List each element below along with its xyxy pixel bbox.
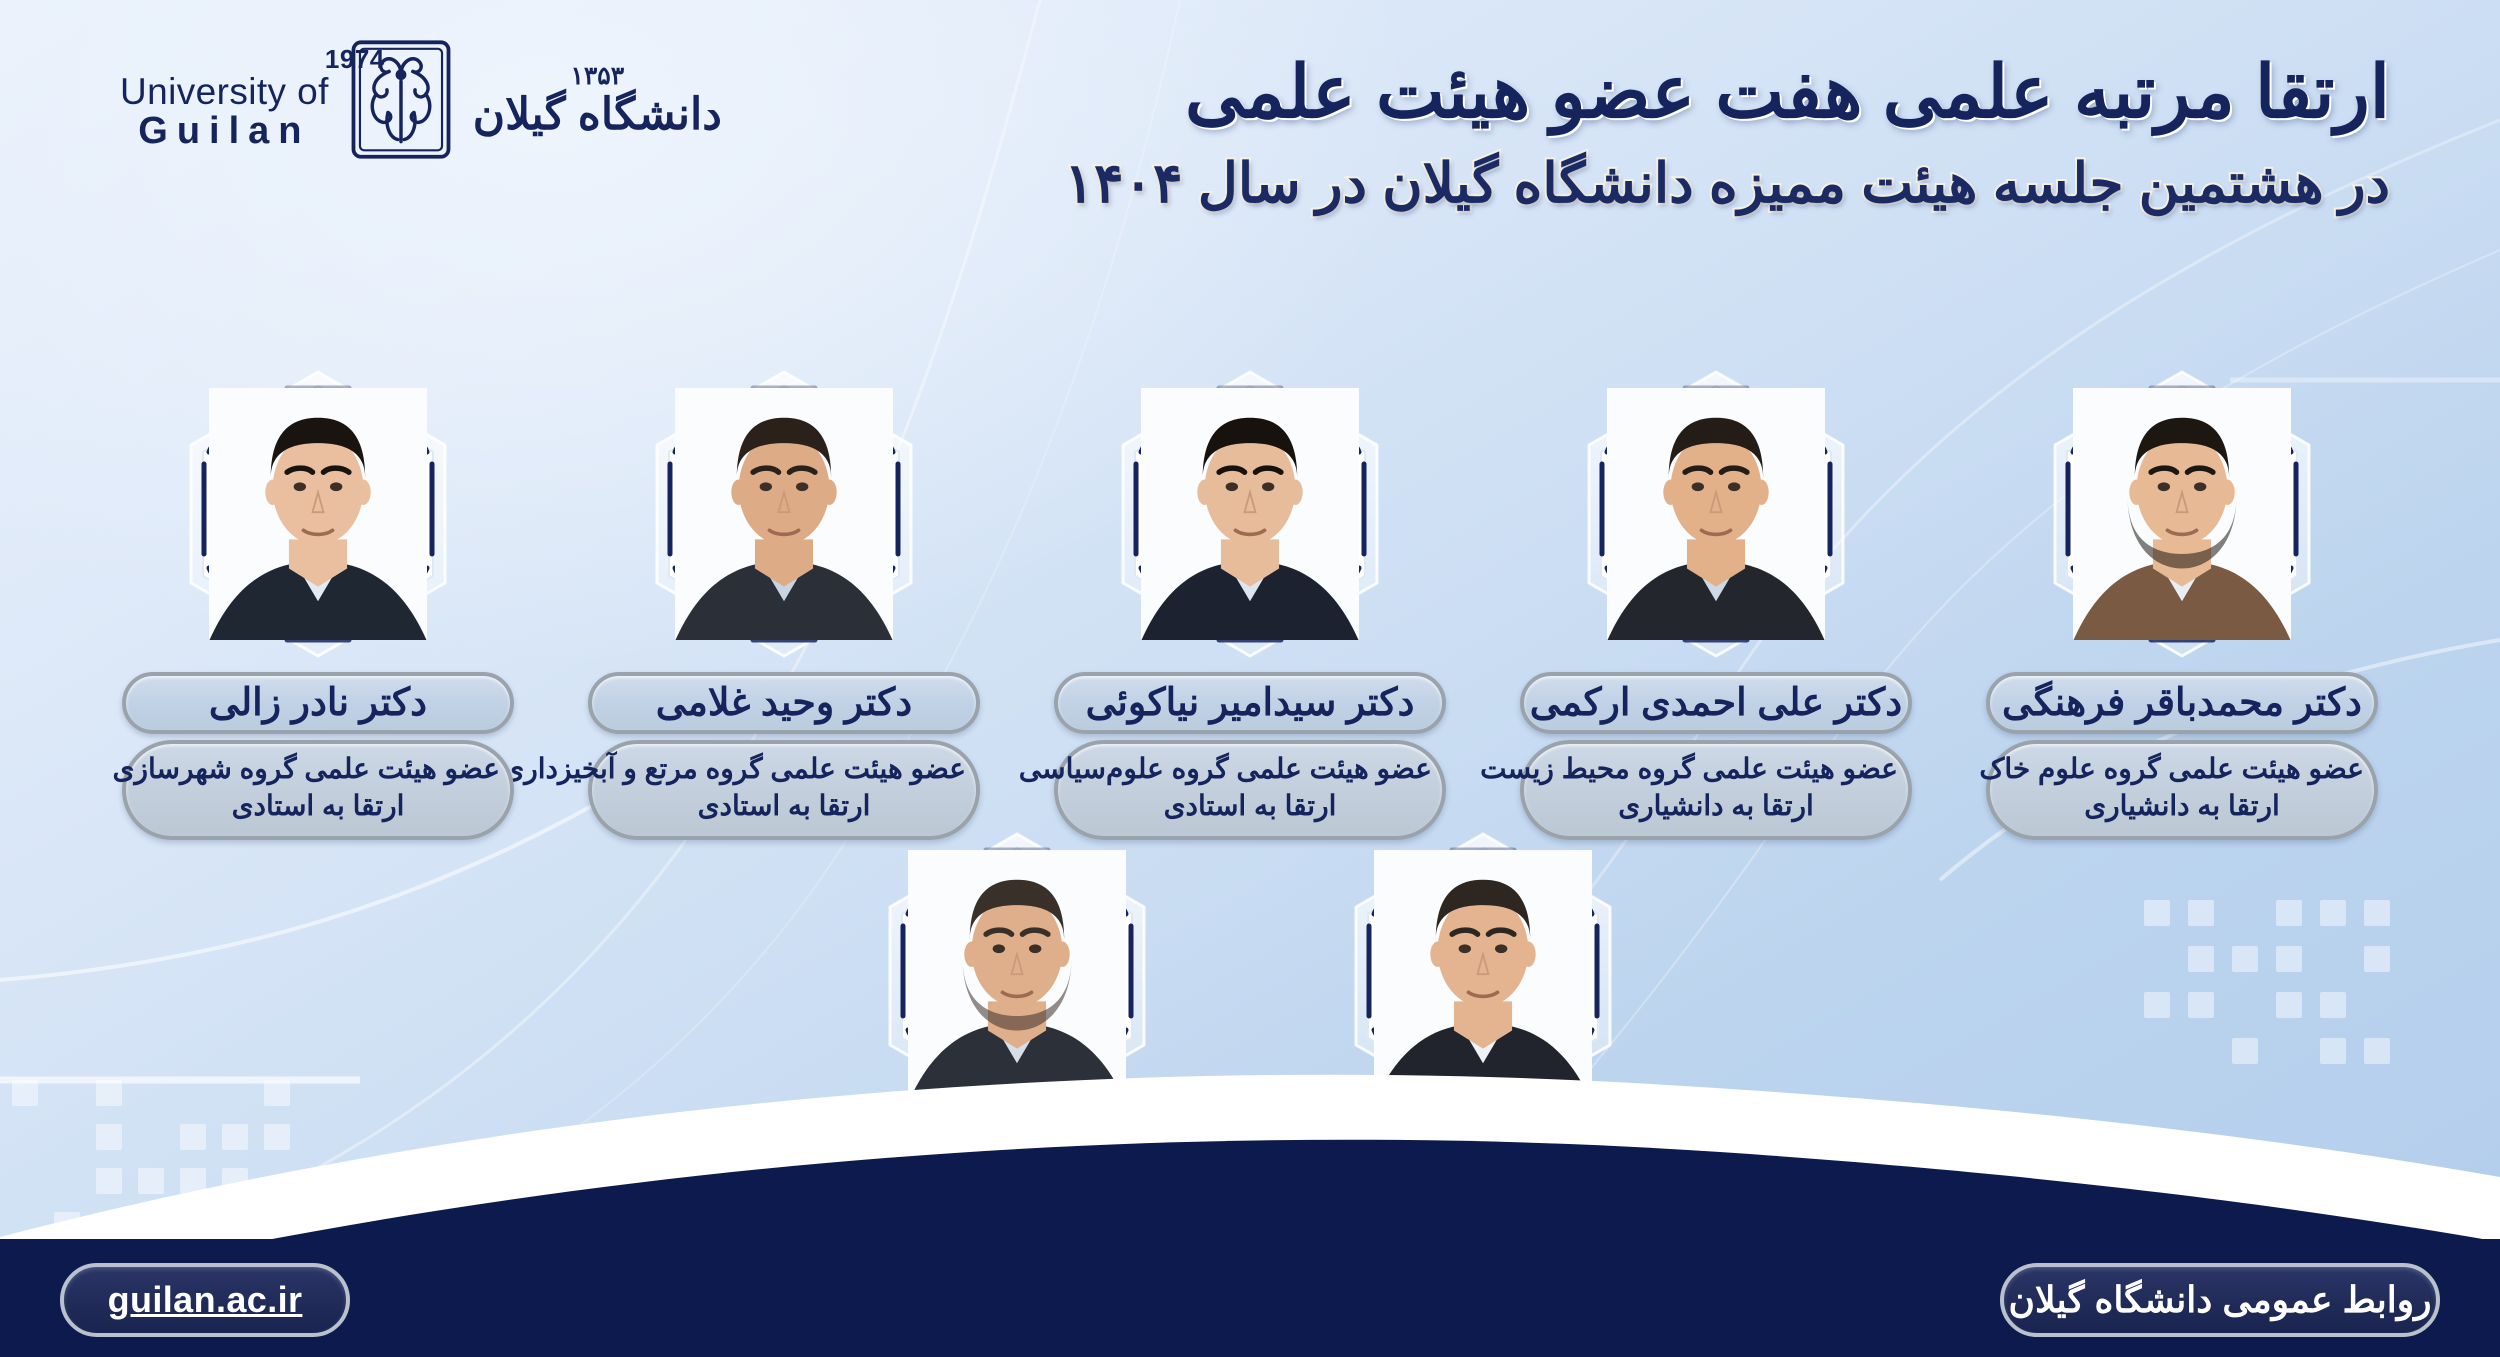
person-card: دکتر هادی احمدی عضو هیئت علمی گروه مهندس… xyxy=(1287,830,1679,1302)
person-promotion: ارتقا به دانشیاری xyxy=(1534,788,1898,825)
person-department: عضو هیئت علمی گروه علوم‌سیاسی xyxy=(1068,751,1432,788)
portrait-photo xyxy=(675,388,893,640)
person-card: دکتر علی احمدی ارکمی عضو هیئت علمی گروه … xyxy=(1520,368,1912,840)
person-promotion: ارتقا به استادی xyxy=(1068,788,1432,825)
person-promotion: ارتقا به دانشیاری xyxy=(2000,788,2364,825)
website-url-chip[interactable]: guilan.ac.ir xyxy=(60,1263,350,1337)
poster-subtitle: در هشتمین جلسه هیئت ممیزه دانشگاه گیلان … xyxy=(1064,152,2390,215)
person-name-pill: دکتر وحید غلامی xyxy=(588,672,980,734)
guilan-emblem-icon xyxy=(347,38,455,160)
portrait-hexagon-frame xyxy=(643,368,925,660)
portrait-hexagon-frame xyxy=(2041,368,2323,660)
person-role-pill: عضو هیئت علمی گروه علوم خاک ارتقا به دان… xyxy=(1986,740,2378,840)
person-card: دکتر محمدباقر فرهنگی عضو هیئت علمی گروه … xyxy=(1986,368,2378,840)
person-name-pill: دکتر علی احمدی ارکمی xyxy=(1520,672,1912,734)
poster-canvas: 1974 University of Guilan xyxy=(0,0,2500,1357)
person-role-pill: عضو هیئت علمی گروه محیط زیست ارتقا به دا… xyxy=(1520,740,1912,840)
logo-english-text: 1974 University of Guilan xyxy=(120,46,329,152)
portrait-hexagon-frame xyxy=(1109,368,1391,660)
person-promotion: ارتقا به استادی xyxy=(602,788,966,825)
public-relations-chip[interactable]: روابط عمومی دانشگاه گیلان xyxy=(2000,1263,2440,1337)
person-name-pill: دکتر سیدامیر نیاکوئی xyxy=(1054,672,1446,734)
person-role-pill: عضو هیئت علمی گروه شهرسازی ارتقا به استا… xyxy=(122,740,514,840)
person-role-pill: عضو هیئت علمی گروه مرتع و آبخیزداری ارتق… xyxy=(588,740,980,840)
logo-university-word: University of xyxy=(120,73,329,112)
logo-founding-year-fa: ۱۳۵۳ xyxy=(473,61,722,91)
people-row-top: دکتر محمدباقر فرهنگی عضو هیئت علمی گروه … xyxy=(0,368,2500,840)
person-department: عضو هیئت علمی گروه محیط زیست xyxy=(1534,751,1898,788)
portrait-photo xyxy=(209,388,427,640)
logo-university-name-fa: دانشگاه گیلان xyxy=(473,93,722,137)
logo-founding-year-en: 1974 xyxy=(120,46,385,73)
person-role-pill: عضو هیئت علمی گروه علوم‌سیاسی ارتقا به ا… xyxy=(1054,740,1446,840)
logo-guilan-word: Guilan xyxy=(120,112,329,152)
portrait-hexagon-frame xyxy=(1342,830,1624,1122)
person-promotion: ارتقا به استادی xyxy=(136,788,500,825)
header-titles: ارتقا مرتبه علمی هفت عضو هیئت علمی در هش… xyxy=(1064,52,2390,215)
person-name-pill: دکتر هادی احمدی xyxy=(1287,1134,1679,1196)
person-card: دکتر سید روح‌ا... کاظمی عضو هیئت علمی گر… xyxy=(821,830,1213,1302)
portrait-photo xyxy=(1607,388,1825,640)
portrait-hexagon-frame xyxy=(876,830,1158,1122)
portrait-hexagon-frame xyxy=(1575,368,1857,660)
poster-title: ارتقا مرتبه علمی هفت عضو هیئت علمی xyxy=(1064,52,2390,134)
person-card: دکتر وحید غلامی عضو هیئت علمی گروه مرتع … xyxy=(588,368,980,840)
university-logo: 1974 University of Guilan xyxy=(120,38,722,160)
portrait-photo xyxy=(1141,388,1359,640)
logo-persian-text: ۱۳۵۳ دانشگاه گیلان xyxy=(473,61,722,137)
person-department: عضو هیئت علمی گروه مرتع و آبخیزداری xyxy=(602,751,966,788)
person-department: عضو هیئت علمی گروه علوم خاک xyxy=(2000,751,2364,788)
portrait-photo xyxy=(1374,850,1592,1102)
person-department: عضو هیئت علمی گروه شهرسازی xyxy=(136,751,500,788)
person-name-pill: دکتر محمدباقر فرهنگی xyxy=(1986,672,2378,734)
person-name-pill: دکتر سید روح‌ا... کاظمی xyxy=(821,1134,1213,1196)
portrait-hexagon-frame xyxy=(177,368,459,660)
footer-bar: guilan.ac.ir روابط عمومی دانشگاه گیلان xyxy=(0,1239,2500,1357)
person-card: دکتر نادر زالی عضو هیئت علمی گروه شهرساز… xyxy=(122,368,514,840)
person-card: دکتر سیدامیر نیاکوئی عضو هیئت علمی گروه … xyxy=(1054,368,1446,840)
people-row-bottom: دکتر هادی احمدی عضو هیئت علمی گروه مهندس… xyxy=(0,830,2500,1302)
portrait-photo xyxy=(908,850,1126,1102)
person-name-pill: دکتر نادر زالی xyxy=(122,672,514,734)
portrait-photo xyxy=(2073,388,2291,640)
